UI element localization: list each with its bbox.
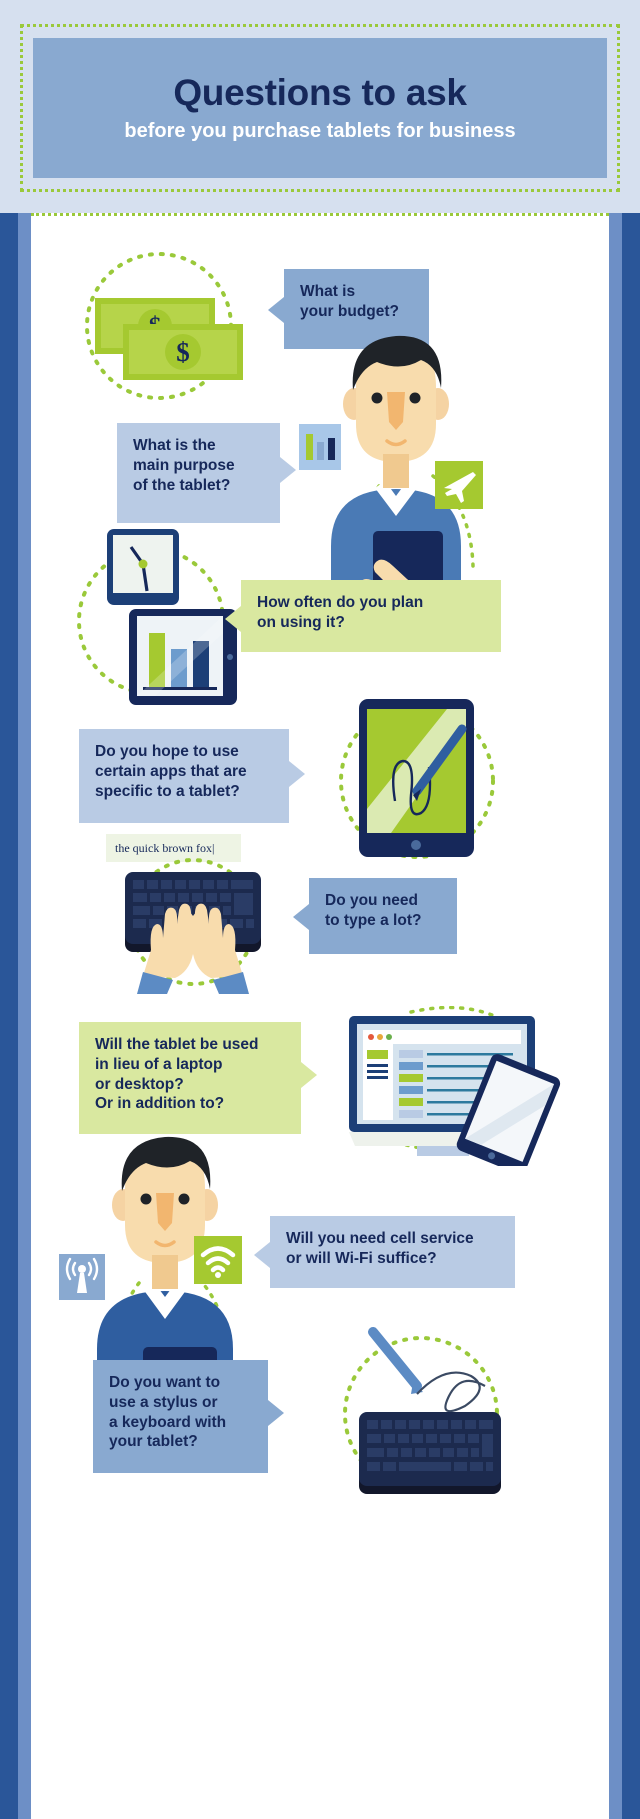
- stylus-keyboard-icon: [325, 1314, 525, 1504]
- bubble-tail: [268, 297, 284, 323]
- header-band: Questions to ask before you purchase tab…: [0, 0, 640, 213]
- question-text-budget: What is your budget?: [300, 282, 413, 322]
- bubble-tail: [225, 606, 241, 632]
- question-bubble-accessories: Do you want to use a stylus or a keyboar…: [93, 1360, 268, 1473]
- left-outer-border: [0, 213, 18, 1819]
- left-inner-border: [18, 213, 31, 1819]
- bubble-tail: [293, 904, 309, 930]
- right-outer-border: [622, 213, 640, 1819]
- page-subtitle: before you purchase tablets for business: [124, 120, 515, 142]
- question-bubble-typing: Do you need to type a lot?: [309, 878, 457, 954]
- illustration-canvas: $ $ What is your budget?: [31, 216, 609, 1819]
- right-inner-border: [609, 213, 622, 1819]
- question-bubble-apps: Do you hope to use certain apps that are…: [79, 729, 289, 823]
- bubble-tail: [268, 1400, 284, 1426]
- infographic-body: $ $ What is your budget?: [0, 213, 640, 1819]
- question-bubble-laptop: Will the tablet be used in lieu of a lap…: [79, 1022, 301, 1134]
- question-bubble-purpose: What is the main purpose of the tablet?: [117, 423, 280, 523]
- airplane-icon: [435, 461, 483, 509]
- question-text-purpose: What is the main purpose of the tablet?: [133, 436, 264, 495]
- bubble-tail: [254, 1242, 270, 1268]
- question-bubble-connectivity: Will you need cell service or will Wi-Fi…: [270, 1216, 515, 1288]
- wifi-icon: [194, 1236, 242, 1284]
- bar-chart-icon: [299, 424, 341, 470]
- question-bubble-frequency: How often do you plan on using it?: [241, 580, 501, 652]
- dollar-sign: $: [176, 337, 190, 367]
- question-text-connectivity: Will you need cell service or will Wi-Fi…: [286, 1229, 499, 1269]
- bubble-tail: [280, 457, 296, 483]
- header-title-box: Questions to ask before you purchase tab…: [33, 38, 607, 178]
- question-text-typing: Do you need to type a lot?: [325, 891, 441, 931]
- bubble-tail: [289, 761, 305, 787]
- bubble-tail: [301, 1062, 317, 1088]
- keyboard-hands-icon: [93, 854, 293, 994]
- typed-text: the quick brown fox|: [115, 841, 214, 855]
- money-icon: $ $: [67, 248, 267, 408]
- question-text-frequency: How often do you plan on using it?: [257, 593, 485, 633]
- tablet-stylus-icon: [329, 691, 504, 866]
- question-text-laptop: Will the tablet be used in lieu of a lap…: [95, 1035, 285, 1114]
- question-text-accessories: Do you want to use a stylus or a keyboar…: [109, 1373, 252, 1452]
- page-title: Questions to ask: [173, 74, 466, 113]
- monitor-tablet-icon: [333, 1006, 563, 1166]
- question-text-apps: Do you hope to use certain apps that are…: [95, 742, 273, 801]
- cell-tower-icon: [59, 1254, 105, 1300]
